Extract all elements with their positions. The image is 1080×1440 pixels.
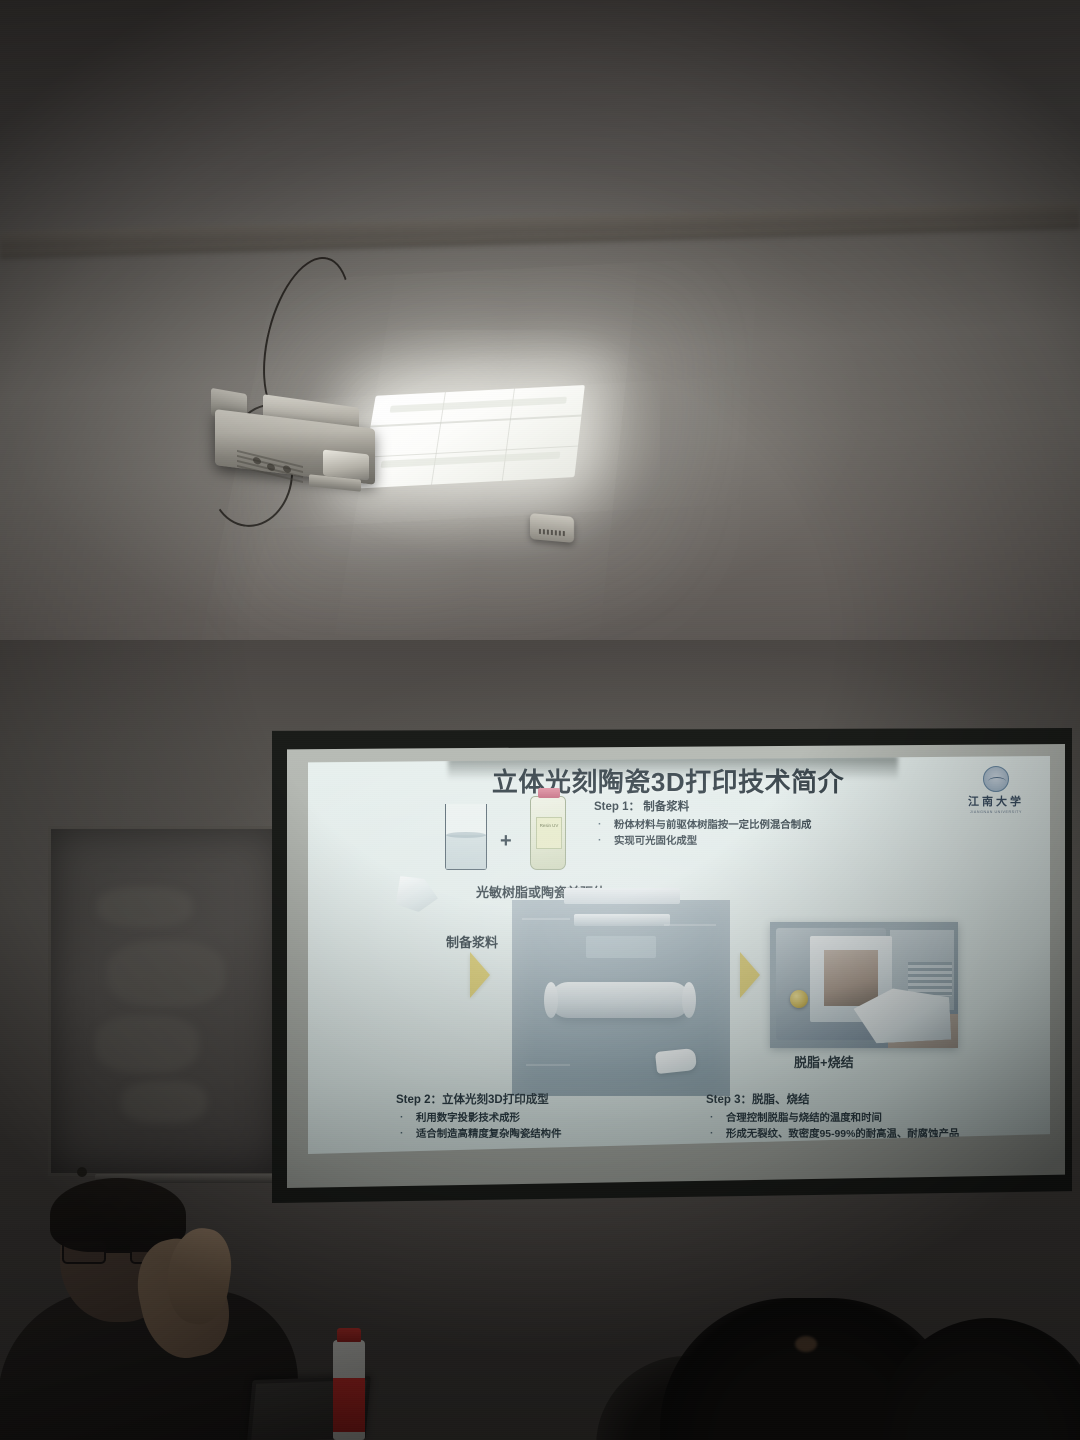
furnace-knob	[790, 990, 808, 1008]
water-bottle-cap	[337, 1328, 361, 1342]
step-2-block: Step 2：立体光刻3D打印成型 利用数字投影技术成形 适合制造高精度复杂陶瓷…	[396, 1091, 561, 1143]
list-item: 粉体材料与前驱体树脂按一定比例混合制成	[594, 818, 811, 834]
step-1-bullets: 粉体材料与前驱体树脂按一定比例混合制成 实现可光固化成型	[594, 818, 811, 850]
step-3-block: Step 3：脱脂、烧结 合理控制脱脂与烧结的温度和时间 形成无裂纹、致密度95…	[706, 1091, 959, 1143]
printed-part	[655, 1048, 697, 1074]
whiteboard-marker	[77, 1167, 87, 1177]
bottle-label: Resin UV	[536, 817, 562, 849]
sintering-furnace-photo	[770, 922, 958, 1048]
printer-top-plate	[574, 914, 670, 926]
lecture-room-scene: 立体光刻陶瓷3D打印技术简介 江南大学 JIANGNAN UNIVERSITY …	[0, 0, 1080, 1440]
label-prepare-slurry: 制备浆料	[446, 932, 498, 951]
beaker-icon	[445, 804, 487, 870]
ceiling-projector	[205, 395, 390, 500]
plus-sign: +	[500, 830, 512, 853]
projected-slide: 立体光刻陶瓷3D打印技术简介 江南大学 JIANGNAN UNIVERSITY …	[308, 756, 1050, 1154]
smoke-detector	[530, 513, 574, 543]
step-2-heading: Step 2：立体光刻3D打印成型	[396, 1091, 561, 1107]
list-item: 利用数字投影技术成形	[396, 1111, 561, 1127]
water-bottle	[333, 1340, 365, 1440]
resin-bottle-icon: Resin UV	[530, 796, 566, 870]
list-item: 合理控制脱脂与烧结的温度和时间	[706, 1111, 959, 1127]
slide-title: 立体光刻陶瓷3D打印技术简介	[458, 762, 878, 799]
university-logo: 江南大学 JIANGNAN UNIVERSITY	[956, 766, 1036, 814]
step-1-heading: Step 1： 制备浆料	[594, 798, 811, 814]
yellow-arrow-icon	[740, 952, 760, 998]
step-3-heading: Step 3：脱脂、烧结	[706, 1091, 959, 1107]
step-1-block: Step 1： 制备浆料 粉体材料与前驱体树脂按一定比例混合制成 实现可光固化成…	[594, 798, 811, 850]
fluorescent-light-panel	[360, 385, 585, 488]
water-bottle-label	[333, 1378, 365, 1432]
ceiling	[0, 0, 1080, 690]
label-debind-sinter: 脱脂+烧结	[794, 1052, 854, 1071]
list-item: 实现可光固化成型	[594, 834, 811, 850]
furnace-vent	[908, 962, 952, 996]
printer-drum	[550, 982, 690, 1018]
list-item: 适合制造高精度复杂陶瓷结构件	[396, 1127, 561, 1143]
whiteboard	[48, 826, 278, 1176]
yellow-arrow-icon	[470, 952, 490, 998]
university-name: 江南大学	[956, 793, 1036, 809]
sla-3d-printer-photo	[512, 900, 730, 1096]
furnace-chamber	[824, 950, 878, 1006]
printer-hood	[564, 888, 680, 904]
university-emblem-icon	[983, 766, 1009, 792]
university-subtitle: JIANGNAN UNIVERSITY	[956, 810, 1036, 814]
step-2-bullets: 利用数字投影技术成形 适合制造高精度复杂陶瓷结构件	[396, 1111, 561, 1143]
printer-display	[586, 936, 656, 958]
bottle-cap	[538, 788, 560, 798]
audience-ear	[795, 1336, 817, 1352]
powder-cone-icon	[392, 876, 438, 912]
